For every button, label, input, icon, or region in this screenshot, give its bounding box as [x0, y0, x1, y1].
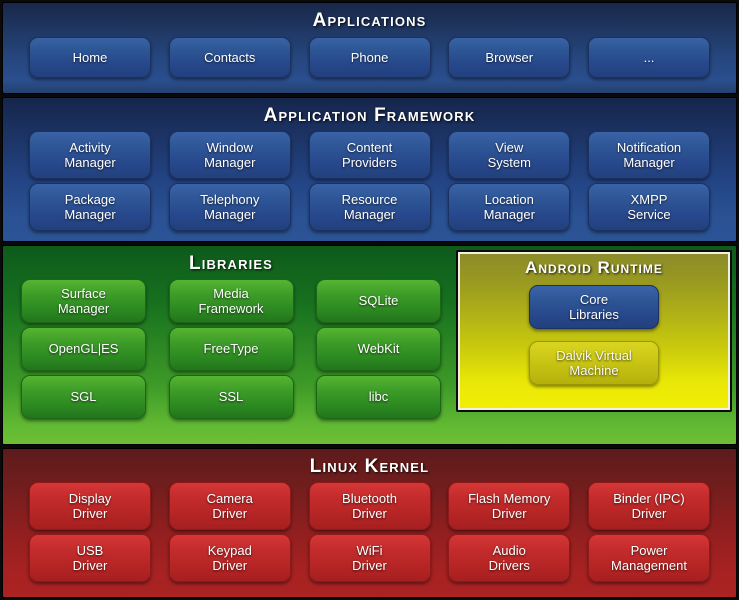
libraries-rows: Surface Manager Media Framework SQLite O… — [3, 275, 459, 419]
framework-box-window-manager[interactable]: Window Manager — [169, 131, 291, 179]
library-box-sqlite[interactable]: SQLite — [316, 279, 441, 323]
kernel-box-audio-drivers[interactable]: Audio Drivers — [448, 534, 570, 582]
kernel-rows: Display Driver Camera Driver Bluetooth D… — [3, 478, 736, 582]
layer-libraries: Libraries Surface Manager Media Framewor… — [3, 246, 459, 444]
applications-rows: Home Contacts Phone Browser ... — [3, 32, 736, 78]
libraries-row-3: SGL SSL libc — [21, 375, 441, 419]
android-architecture-diagram: Applications Home Contacts Phone Browser… — [0, 0, 739, 600]
framework-box-xmpp-service[interactable]: XMPP Service — [588, 183, 710, 231]
kernel-box-camera-driver[interactable]: Camera Driver — [169, 482, 291, 530]
framework-box-activity-manager[interactable]: Activity Manager — [29, 131, 151, 179]
framework-box-telephony-manager[interactable]: Telephony Manager — [169, 183, 291, 231]
kernel-box-bluetooth-driver[interactable]: Bluetooth Driver — [309, 482, 431, 530]
layer-applications: Applications Home Contacts Phone Browser… — [2, 2, 737, 94]
framework-row-2: Package Manager Telephony Manager Resour… — [29, 183, 710, 231]
layer-title-libraries: Libraries — [3, 246, 459, 275]
framework-box-package-manager[interactable]: Package Manager — [29, 183, 151, 231]
kernel-box-usb-driver[interactable]: USB Driver — [29, 534, 151, 582]
kernel-box-flash-memory-driver[interactable]: Flash Memory Driver — [448, 482, 570, 530]
app-box-home[interactable]: Home — [29, 37, 151, 78]
framework-box-content-providers[interactable]: Content Providers — [309, 131, 431, 179]
kernel-box-power-management[interactable]: Power Management — [588, 534, 710, 582]
kernel-box-binder-ipc-driver[interactable]: Binder (IPC) Driver — [588, 482, 710, 530]
app-box-contacts[interactable]: Contacts — [169, 37, 291, 78]
app-box-phone[interactable]: Phone — [309, 37, 431, 78]
layer-libraries-and-runtime: Libraries Surface Manager Media Framewor… — [2, 245, 737, 445]
kernel-box-keypad-driver[interactable]: Keypad Driver — [169, 534, 291, 582]
library-box-surface-manager[interactable]: Surface Manager — [21, 279, 146, 323]
layer-linux-kernel: Linux Kernel Display Driver Camera Drive… — [2, 448, 737, 598]
runtime-boxes: Core Libraries Dalvik Virtual Machine — [458, 278, 730, 385]
framework-box-location-manager[interactable]: Location Manager — [448, 183, 570, 231]
framework-row-1: Activity Manager Window Manager Content … — [29, 131, 710, 179]
library-box-webkit[interactable]: WebKit — [316, 327, 441, 371]
layer-application-framework: Application Framework Activity Manager W… — [2, 97, 737, 242]
layer-title-application-framework: Application Framework — [3, 98, 736, 127]
library-box-sgl[interactable]: SGL — [21, 375, 146, 419]
library-box-ssl[interactable]: SSL — [169, 375, 294, 419]
framework-box-resource-manager[interactable]: Resource Manager — [309, 183, 431, 231]
applications-row-1: Home Contacts Phone Browser ... — [29, 37, 710, 78]
framework-box-notification-manager[interactable]: Notification Manager — [588, 131, 710, 179]
framework-rows: Activity Manager Window Manager Content … — [3, 127, 736, 231]
framework-box-view-system[interactable]: View System — [448, 131, 570, 179]
library-box-libc[interactable]: libc — [316, 375, 441, 419]
library-box-opengl-es[interactable]: OpenGL|ES — [21, 327, 146, 371]
library-box-freetype[interactable]: FreeType — [169, 327, 294, 371]
panel-android-runtime: Android Runtime Core Libraries Dalvik Vi… — [456, 250, 732, 412]
kernel-box-display-driver[interactable]: Display Driver — [29, 482, 151, 530]
app-box-browser[interactable]: Browser — [448, 37, 570, 78]
runtime-box-core-libraries[interactable]: Core Libraries — [529, 285, 659, 329]
kernel-row-2: USB Driver Keypad Driver WiFi Driver Aud… — [29, 534, 710, 582]
layer-title-android-runtime: Android Runtime — [458, 252, 730, 278]
runtime-box-dalvik-vm[interactable]: Dalvik Virtual Machine — [529, 341, 659, 385]
libraries-row-2: OpenGL|ES FreeType WebKit — [21, 327, 441, 371]
libraries-row-1: Surface Manager Media Framework SQLite — [21, 279, 441, 323]
library-box-media-framework[interactable]: Media Framework — [169, 279, 294, 323]
layer-title-applications: Applications — [3, 3, 736, 32]
kernel-row-1: Display Driver Camera Driver Bluetooth D… — [29, 482, 710, 530]
app-box-more[interactable]: ... — [588, 37, 710, 78]
layer-title-linux-kernel: Linux Kernel — [3, 449, 736, 478]
kernel-box-wifi-driver[interactable]: WiFi Driver — [309, 534, 431, 582]
